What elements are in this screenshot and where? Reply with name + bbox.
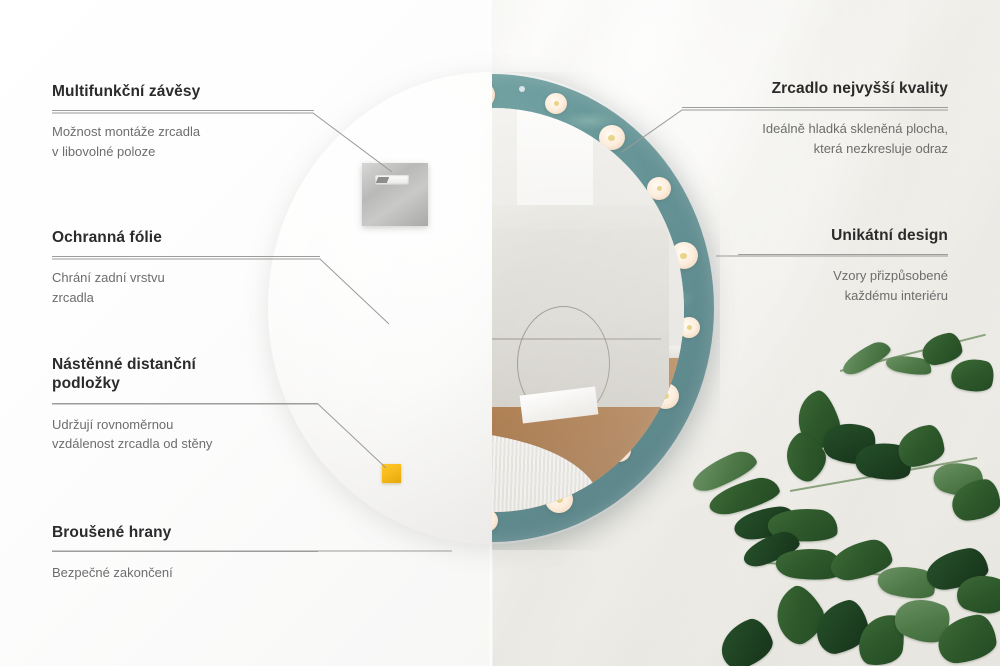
callout-zrcadlo-nejvyssi-kvality: Zrcadlo nejvyšší kvality Ideálně hladká …	[682, 79, 948, 158]
spacer-pad-icon	[382, 464, 401, 483]
leaf	[714, 614, 778, 666]
callout-ochranna-folie: Ochranná fólie Chrání zadní vrstvuzrcadl…	[52, 228, 320, 307]
infographic-canvas: Multifunkční závěsy Možnost montáže zrca…	[0, 0, 1000, 666]
bracket-keyhole-slot	[375, 175, 409, 185]
callout-description: Chrání zadní vrstvuzrcadla	[52, 268, 320, 307]
callout-brousene-hrany: Broušené hrany Bezpečné zakončení	[52, 523, 318, 583]
callout-rule	[738, 254, 948, 255]
callout-unikatni-design: Unikátní design Vzory přizpůsobenékaždém…	[738, 226, 948, 305]
leaf	[896, 424, 946, 469]
desc-line-1: Vzory přizpůsobené	[833, 268, 948, 283]
desc-line-2: zrcadla	[52, 290, 94, 305]
callout-title: Zrcadlo nejvyšší kvality	[682, 79, 948, 98]
callout-title: Ochranná fólie	[52, 228, 320, 247]
callout-description: Možnost montáže zrcadlav libovolné poloz…	[52, 122, 314, 161]
callout-description: Vzory přizpůsobenékaždému interiéru	[738, 266, 948, 305]
desc-line-2: každému interiéru	[845, 288, 948, 303]
callout-multifunkcni-zavesy: Multifunkční závěsy Možnost montáže zrca…	[52, 82, 314, 161]
desc-line-2: která nezkresluje odraz	[814, 141, 948, 156]
callout-title: Broušené hrany	[52, 523, 318, 542]
mirror-assembly	[268, 72, 720, 550]
callout-description: Udržují rovnoměrnouvzdálenost zrcadla od…	[52, 415, 318, 454]
callout-nastenne-distancni-podlozky: Nástěnné distančnípodložky Udržují rovno…	[52, 355, 318, 454]
callout-rule	[52, 110, 314, 111]
callout-rule	[682, 107, 948, 108]
title-line-2: podložky	[52, 375, 120, 392]
callout-rule	[52, 256, 320, 257]
callout-rule	[52, 551, 318, 552]
callout-title: Nástěnné distančnípodložky	[52, 355, 318, 394]
desc-line-2: v libovolné poloze	[52, 144, 155, 159]
callout-description: Bezpečné zakončení	[52, 563, 318, 583]
desc-line-2: vzdálenost zrcadla od stěny	[52, 436, 212, 451]
callout-title: Unikátní design	[738, 226, 948, 245]
desc-line-1: Udržují rovnoměrnou	[52, 417, 173, 432]
callout-description: Ideálně hladká skleněná plocha,která nez…	[682, 119, 948, 158]
frame-dot	[519, 86, 525, 92]
hanging-bracket-icon	[362, 163, 428, 226]
desc-line-1: Ideálně hladká skleněná plocha,	[762, 121, 948, 136]
mirror-glass	[492, 108, 684, 512]
title-line-1: Nástěnné distanční	[52, 356, 196, 373]
leaf	[920, 331, 964, 366]
leaf	[948, 353, 998, 397]
foliage-decoration	[690, 330, 1000, 666]
callout-title: Multifunkční závěsy	[52, 82, 314, 101]
desc-line-1: Možnost montáže zrcadla	[52, 124, 200, 139]
callout-rule	[52, 403, 318, 404]
floral-frame	[492, 74, 714, 542]
desc-line-1: Chrání zadní vrstvu	[52, 270, 165, 285]
